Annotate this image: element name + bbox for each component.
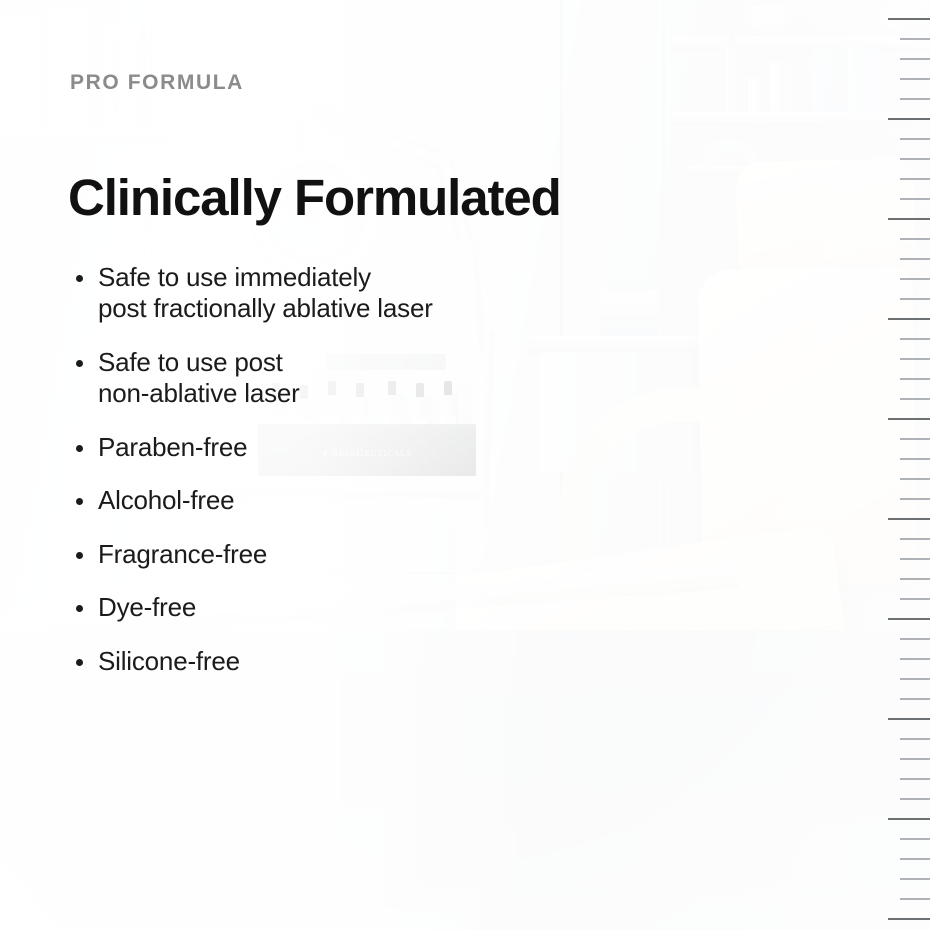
list-item: Alcohol-free [70, 485, 540, 516]
list-item-line: Safe to use post [98, 347, 283, 377]
list-item: Paraben-free [70, 432, 540, 463]
list-item-line: Alcohol-free [98, 485, 234, 515]
list-item-line: Dye-free [98, 592, 196, 622]
text-content: PRO FORMULA Clinically Formulated Safe t… [0, 0, 930, 930]
list-item: Dye-free [70, 592, 540, 623]
list-item-line: Silicone-free [98, 646, 240, 676]
list-item: Silicone-free [70, 646, 540, 677]
pro-formula-poster: ❦SkinCeuticals PRO FORMULA Clinically Fo… [0, 0, 930, 930]
list-item-line: non-ablative laser [98, 378, 540, 409]
page-title: Clinically Formulated [68, 171, 561, 225]
list-item: Safe to use immediatelypost fractionally… [70, 262, 540, 325]
list-item: Fragrance-free [70, 539, 540, 570]
list-item-line: post fractionally ablative laser [98, 293, 540, 324]
list-item: Safe to use postnon-ablative laser [70, 347, 540, 410]
list-item-line: Safe to use immediately [98, 262, 371, 292]
list-item-line: Fragrance-free [98, 539, 267, 569]
benefits-list: Safe to use immediatelypost fractionally… [70, 262, 540, 677]
eyebrow-label: PRO FORMULA [70, 71, 244, 95]
list-item-line: Paraben-free [98, 432, 247, 462]
